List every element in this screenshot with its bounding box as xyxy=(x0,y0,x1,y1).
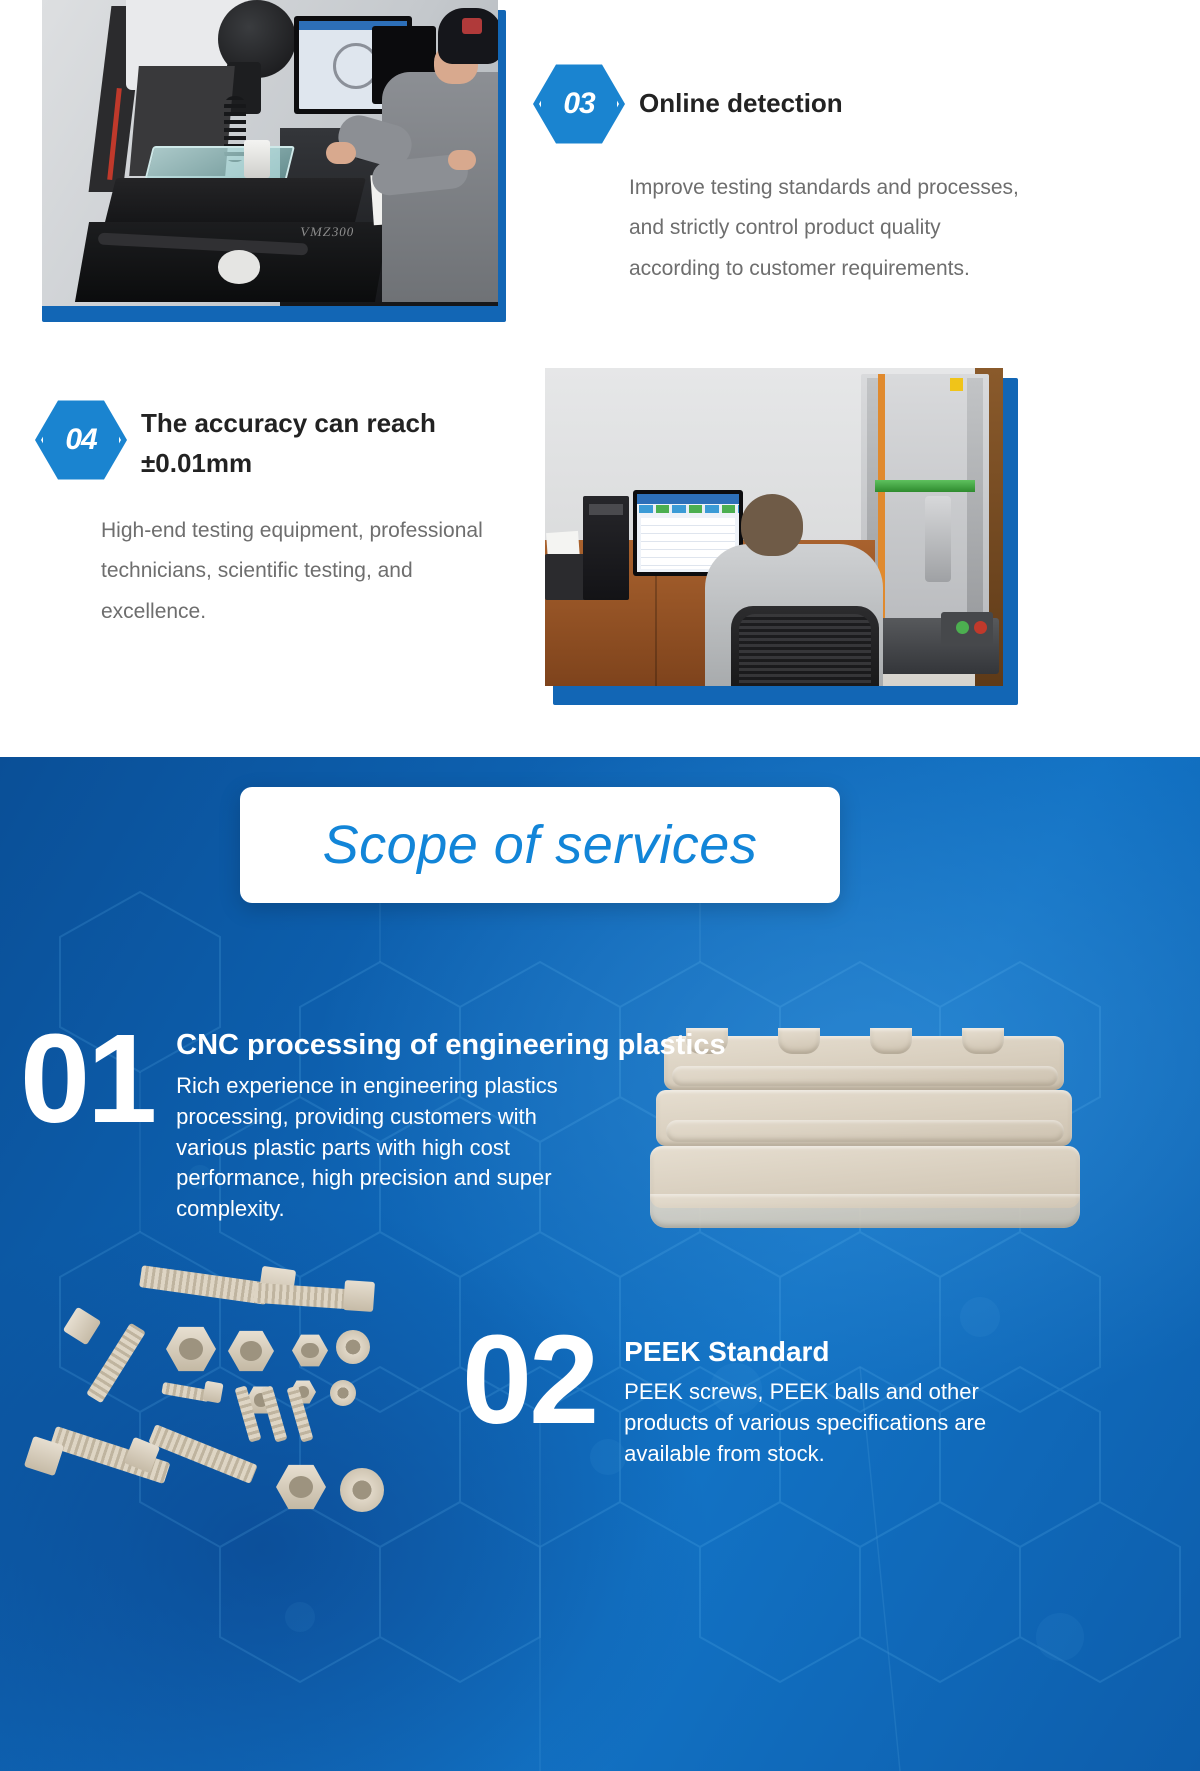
feature-03-title: Online detection xyxy=(639,84,843,124)
photo-specimen xyxy=(244,140,270,178)
chain-tooth xyxy=(962,1028,1004,1054)
photo-operator-cap xyxy=(438,8,498,64)
photo-office-chair xyxy=(731,606,879,686)
photo-screen-titlebar xyxy=(637,494,739,504)
hexagon-number: 03 xyxy=(533,62,625,146)
peek-chain-product-image xyxy=(650,1028,1080,1258)
service-02-text: PEEK Standard PEEK screws, PEEK balls an… xyxy=(624,1322,1004,1469)
bolt-shank xyxy=(139,1265,269,1305)
photo-green-panel xyxy=(875,480,975,492)
photo-roller xyxy=(218,250,260,284)
feature-block-03: 03 Online detection Improve testing stan… xyxy=(533,62,1033,289)
service-01-title: CNC processing of engineering plastics xyxy=(176,1029,606,1062)
photo-red-button xyxy=(974,621,987,634)
scope-title-card: Scope of services xyxy=(240,787,840,903)
feature-block-04: 04 The accuracy can reach ±0.01mm High-e… xyxy=(35,398,535,632)
optical-measuring-photo: VMZ300 xyxy=(42,0,498,306)
chain-tooth xyxy=(870,1028,912,1054)
feature-03-head: 03 Online detection xyxy=(533,62,1033,146)
tensile-testing-photo-frame xyxy=(545,368,1010,695)
warning-label-icon xyxy=(950,378,963,391)
bolt-shank xyxy=(86,1323,146,1404)
photo-chair-mesh xyxy=(739,614,871,686)
peek-washer xyxy=(330,1380,356,1406)
chain-slot xyxy=(672,1066,1058,1086)
service-02-number: 02 xyxy=(462,1322,596,1438)
photo-operator-hand-right xyxy=(448,150,476,170)
feature-04-body: High-end testing equipment, professional… xyxy=(35,511,485,632)
scope-of-services-section xyxy=(0,757,1200,1771)
photo-technician-head xyxy=(741,494,803,556)
hexagon-number: 04 xyxy=(35,398,127,482)
service-01-number: 01 xyxy=(20,1021,154,1137)
photo-tester-grip xyxy=(925,496,951,582)
photo-tester-column-right xyxy=(967,378,983,624)
service-block-01: 01 CNC processing of engineering plastic… xyxy=(20,1021,660,1225)
service-block-02: 02 PEEK Standard PEEK screws, PEEK balls… xyxy=(462,1322,1162,1469)
peek-washer xyxy=(336,1330,370,1364)
peek-nut xyxy=(228,1330,274,1372)
chain-tooth xyxy=(778,1028,820,1054)
photo-drive-slot xyxy=(589,504,623,515)
service-02-body: PEEK screws, PEEK balls and other produc… xyxy=(624,1377,1004,1469)
peek-nut xyxy=(292,1334,328,1367)
chain-base xyxy=(650,1194,1080,1228)
tensile-testing-photo xyxy=(545,368,1003,686)
bolt-shank xyxy=(253,1283,350,1310)
scope-title: Scope of services xyxy=(323,814,758,876)
photo-screen-tabs xyxy=(639,505,739,513)
bolt-head xyxy=(63,1307,102,1346)
photo-green-button xyxy=(956,621,969,634)
service-02-title: PEEK Standard xyxy=(624,1336,1004,1368)
screw-shank xyxy=(261,1385,288,1442)
screw-head xyxy=(202,1381,223,1404)
hexagon-badge-icon: 03 xyxy=(533,62,625,146)
peek-washer xyxy=(340,1468,384,1512)
service-01-text: CNC processing of engineering plastics R… xyxy=(176,1021,606,1225)
feature-03-body: Improve testing standards and processes,… xyxy=(533,168,1033,289)
chain-slot xyxy=(666,1120,1064,1142)
service-01-body: Rich experience in engineering plastics … xyxy=(176,1071,606,1225)
peek-nut xyxy=(276,1464,326,1510)
peek-nut xyxy=(166,1326,216,1372)
hexagon-badge-icon: 04 xyxy=(35,398,127,482)
feature-04-title: The accuracy can reach ±0.01mm xyxy=(141,398,535,483)
optical-measuring-photo-frame: VMZ300 xyxy=(42,10,506,322)
photo-pc-tower xyxy=(583,496,629,600)
photo-operator-hand-left xyxy=(326,142,356,164)
photo-cap-logo xyxy=(462,18,482,34)
feature-04-head: 04 The accuracy can reach ±0.01mm xyxy=(35,398,535,483)
machine-label: VMZ300 xyxy=(299,224,356,240)
hexagon-background-pattern-icon xyxy=(0,757,1200,1771)
bolt-head xyxy=(343,1280,375,1312)
top-features-section: VMZ300 xyxy=(0,0,1200,860)
peek-fasteners-product-image xyxy=(40,1268,460,1538)
